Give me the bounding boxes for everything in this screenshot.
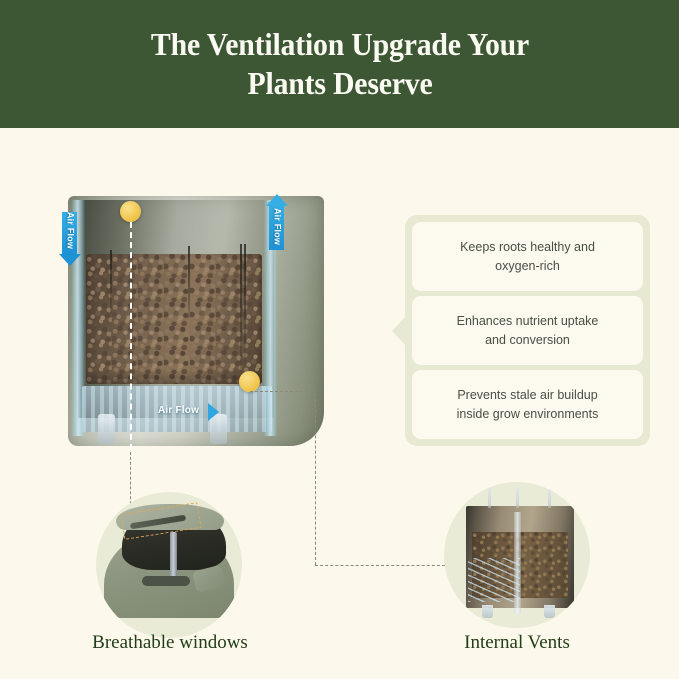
connector-right-vertical bbox=[315, 400, 316, 565]
vessel-leg bbox=[482, 605, 493, 618]
benefit-line-1: Enhances nutrient uptake bbox=[457, 312, 599, 330]
planter-foot bbox=[98, 414, 115, 444]
benefit-card: Enhances nutrient uptake and conversion bbox=[412, 296, 643, 365]
sensor-probe bbox=[170, 532, 177, 578]
hotspot-bottom-marker[interactable] bbox=[239, 371, 260, 392]
benefit-text: Keeps roots healthy and oxygen-rich bbox=[460, 238, 595, 274]
benefit-line-2: oxygen-rich bbox=[460, 257, 595, 275]
detail-label-internal-vents: Internal Vents bbox=[397, 632, 637, 654]
product-cutaway-illustration: Air Flow Air Flow Air Flow bbox=[62, 190, 330, 452]
lid-lower-slot bbox=[142, 576, 190, 586]
vessel-leg bbox=[544, 605, 555, 618]
vent-blade-icon bbox=[240, 244, 242, 372]
header-banner: The Ventilation Upgrade Your Plants Dese… bbox=[0, 0, 679, 128]
page-title: The Ventilation Upgrade Your Plants Dese… bbox=[121, 25, 558, 103]
vent-blade-icon bbox=[110, 250, 112, 314]
hotspot-top-connector bbox=[130, 222, 132, 450]
airflow-label-bottom: Air Flow bbox=[158, 405, 199, 416]
airflow-label-right: Air Flow bbox=[271, 200, 284, 254]
benefit-line-2: inside grow environments bbox=[457, 405, 599, 423]
hotspot-top-marker[interactable] bbox=[120, 201, 141, 222]
connector-right-corner bbox=[293, 391, 315, 413]
vessel-stem bbox=[488, 488, 491, 508]
detail-circle-internal-vents bbox=[444, 482, 590, 628]
panel-pointer-icon bbox=[392, 316, 406, 346]
benefit-line-1: Keeps roots healthy and bbox=[460, 238, 595, 256]
airflow-arrow-right-icon bbox=[208, 403, 219, 421]
vessel-stem bbox=[548, 488, 551, 508]
benefit-line-2: and conversion bbox=[457, 331, 599, 349]
detail-label-breathable-windows: Breathable windows bbox=[50, 632, 290, 654]
connector-right-horizontal-bottom bbox=[315, 565, 445, 566]
vessel-cutaway bbox=[466, 506, 574, 608]
page-title-line-2: Plants Deserve bbox=[121, 64, 558, 103]
vent-blade-icon bbox=[188, 246, 190, 318]
vessel-stem bbox=[516, 488, 519, 508]
page-title-line-1: The Ventilation Upgrade Your bbox=[121, 25, 558, 64]
internal-vent-airflow-spray bbox=[468, 558, 520, 602]
airflow-label-left: Air Flow bbox=[64, 204, 77, 258]
vent-blade-icon bbox=[244, 244, 246, 364]
benefit-text: Prevents stale air buildup inside grow e… bbox=[457, 386, 599, 422]
benefit-card: Keeps roots healthy and oxygen-rich bbox=[412, 222, 643, 291]
soil-medium bbox=[86, 254, 262, 384]
detail-circle-breathable-windows bbox=[96, 492, 242, 638]
benefit-text: Enhances nutrient uptake and conversion bbox=[457, 312, 599, 348]
benefit-card: Prevents stale air buildup inside grow e… bbox=[412, 370, 643, 439]
benefit-line-1: Prevents stale air buildup bbox=[457, 386, 599, 404]
benefits-panel: Keeps roots healthy and oxygen-rich Enha… bbox=[405, 215, 650, 446]
